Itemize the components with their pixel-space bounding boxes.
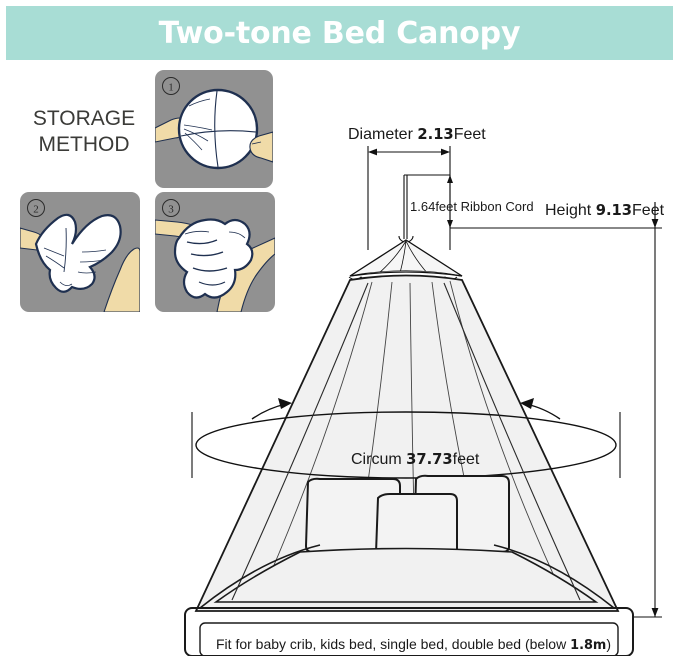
circum-value: 37.73 xyxy=(406,451,453,468)
diameter-prefix: Diameter xyxy=(348,126,417,143)
diameter-label: Diameter 2.13Feet xyxy=(348,126,486,144)
circum-prefix: Circum xyxy=(351,451,406,468)
circum-arrow-right-head xyxy=(520,398,534,409)
infographic-page: Two-tone Bed Canopy STORAGE METHOD 1 xyxy=(0,0,679,656)
height-prefix: Height xyxy=(545,202,596,219)
cord-ring-shape xyxy=(399,236,413,242)
fit-value: 1.8m xyxy=(570,638,606,653)
ribbon-arrow-bottom xyxy=(447,220,453,228)
drape-fold-5 xyxy=(450,281,566,602)
fit-description-label: Fit for baby crib, kids bed, single bed,… xyxy=(216,636,611,653)
diameter-suffix: Feet xyxy=(454,126,486,143)
ribbon-suffix: feet Ribbon Cord xyxy=(435,199,533,214)
ruffle-band-fill xyxy=(350,271,462,276)
height-arrow-top xyxy=(652,219,659,228)
storage-step-1-number: 1 xyxy=(168,82,174,94)
storage-step-1-panel: 1 xyxy=(155,70,273,188)
ribbon-cord-label: 1.64feet Ribbon Cord xyxy=(410,199,534,214)
height-label: Height 9.13Feet xyxy=(545,202,664,220)
canopy-dimension-diagram xyxy=(0,0,679,656)
ribbon-arrow-top xyxy=(447,175,453,183)
height-value: 9.13 xyxy=(596,202,632,219)
pillow-right xyxy=(414,476,509,552)
net-hem-left xyxy=(200,545,320,608)
ruffle-bottom-edge xyxy=(349,279,463,283)
storage-label-line1: STORAGE xyxy=(18,106,150,132)
storage-step-2-number: 2 xyxy=(33,204,39,216)
crown-fold-1 xyxy=(378,241,406,274)
page-title: Two-tone Bed Canopy xyxy=(159,16,521,51)
net-sweep-left xyxy=(232,283,368,600)
pillow-center xyxy=(376,494,457,559)
storage-label-line2: METHOD xyxy=(18,132,150,158)
ruffle-scallop-edge xyxy=(349,277,457,280)
net-sweep-right xyxy=(444,283,580,600)
circumference-label: Circum 37.73feet xyxy=(351,451,479,469)
drape-fold-4 xyxy=(432,282,492,602)
fit-text: Fit for baby crib, kids bed, single bed,… xyxy=(216,636,570,652)
drape-fold-2 xyxy=(350,282,392,602)
ribbon-value: 1.64 xyxy=(410,199,435,214)
storage-step-2-panel: 2 xyxy=(20,192,140,312)
pillow-left xyxy=(306,479,400,552)
height-arrow-bottom xyxy=(652,608,659,617)
circum-arrow-left-head xyxy=(278,398,292,409)
mattress-surface xyxy=(216,549,596,603)
drape-fold-3 xyxy=(410,283,416,602)
hand-right-icon xyxy=(104,248,140,312)
fabric-shape xyxy=(36,215,121,292)
drape-fold-1 xyxy=(258,282,372,602)
storage-step-3-number: 3 xyxy=(168,204,174,216)
net-hem-right xyxy=(494,545,614,608)
storage-step-3-illustration: 3 xyxy=(155,192,275,312)
crown-fold-3 xyxy=(406,241,428,274)
height-suffix: Feet xyxy=(632,202,664,219)
canopy-drape-body xyxy=(196,276,618,612)
fit-suffix: ) xyxy=(606,636,611,652)
circum-arrow-right-curve xyxy=(526,404,560,419)
storage-step-3-panel: 3 xyxy=(155,192,275,312)
diameter-arrow-left xyxy=(368,149,377,156)
canopy-disc-shape xyxy=(179,90,257,168)
circum-arrow-left-curve xyxy=(252,404,286,419)
ruffle-top-edge xyxy=(350,272,462,276)
crown-fold-2 xyxy=(400,241,406,273)
storage-step-2-illustration: 2 xyxy=(20,192,140,312)
diameter-arrow-right xyxy=(441,149,450,156)
circum-suffix: feet xyxy=(453,451,480,468)
diameter-value: 2.13 xyxy=(417,126,453,143)
storage-step-1-illustration: 1 xyxy=(155,70,273,188)
storage-method-label: STORAGE METHOD xyxy=(18,106,150,158)
header-banner: Two-tone Bed Canopy xyxy=(6,6,673,60)
canopy-crown-cone xyxy=(350,240,462,276)
